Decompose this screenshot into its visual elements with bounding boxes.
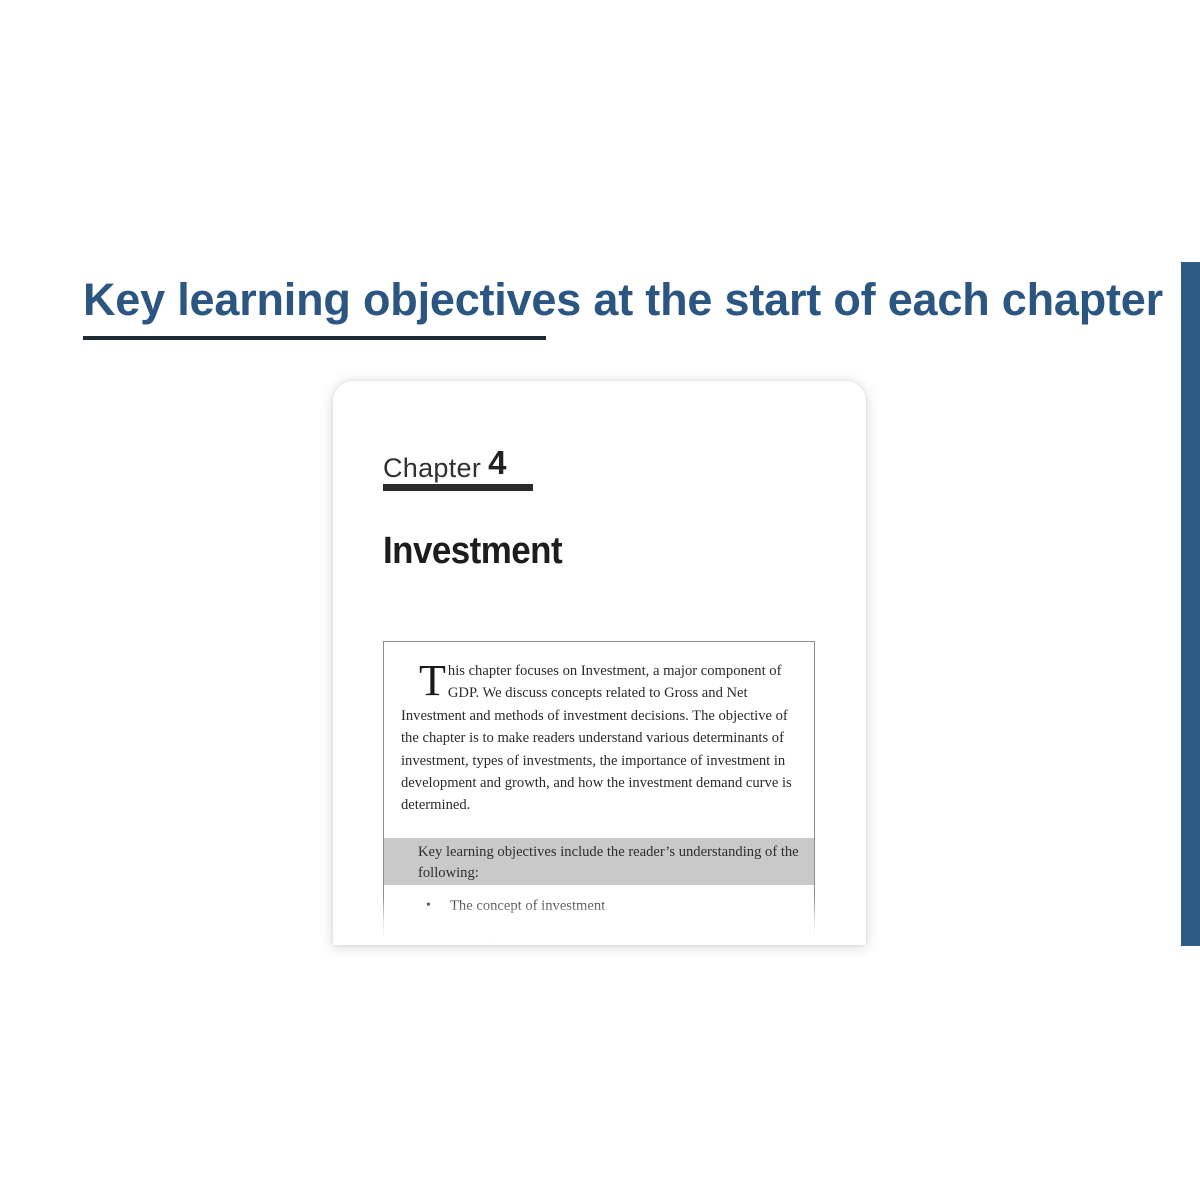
abstract-body-text: his chapter focuses on Investment, a maj… (401, 663, 792, 813)
objectives-intro-text: Key learning objectives include the read… (418, 842, 803, 884)
chapter-number-label: 4 (488, 444, 506, 481)
chapter-label-row: Chapter4 (383, 447, 507, 485)
slide-canvas: Key learning objectives at the start of … (0, 0, 1200, 1200)
chapter-divider-rule (383, 484, 533, 491)
chapter-word-label: Chapter (383, 453, 481, 483)
abstract-paragraph: This chapter focuses on Investment, a ma… (401, 660, 801, 817)
chapter-abstract-box: This chapter focuses on Investment, a ma… (383, 641, 815, 945)
heading-underline (83, 336, 546, 340)
right-accent-bar (1181, 262, 1200, 946)
list-item: The difference between gross and net inv… (418, 933, 808, 945)
page-title: Key learning objectives at the start of … (83, 276, 1143, 323)
objectives-bullet-list: The concept of investment The difference… (418, 896, 808, 945)
objectives-highlight-band: Key learning objectives include the read… (384, 838, 814, 885)
list-item: The concept of investment (418, 896, 808, 917)
chapter-title: Investment (383, 530, 562, 573)
slide-heading-block: Key learning objectives at the start of … (83, 276, 1143, 323)
book-page-content: Chapter4 Investment This chapter focuses… (333, 381, 866, 945)
abstract-dropcap: T (401, 660, 448, 698)
book-page-card: Chapter4 Investment This chapter focuses… (333, 381, 866, 945)
